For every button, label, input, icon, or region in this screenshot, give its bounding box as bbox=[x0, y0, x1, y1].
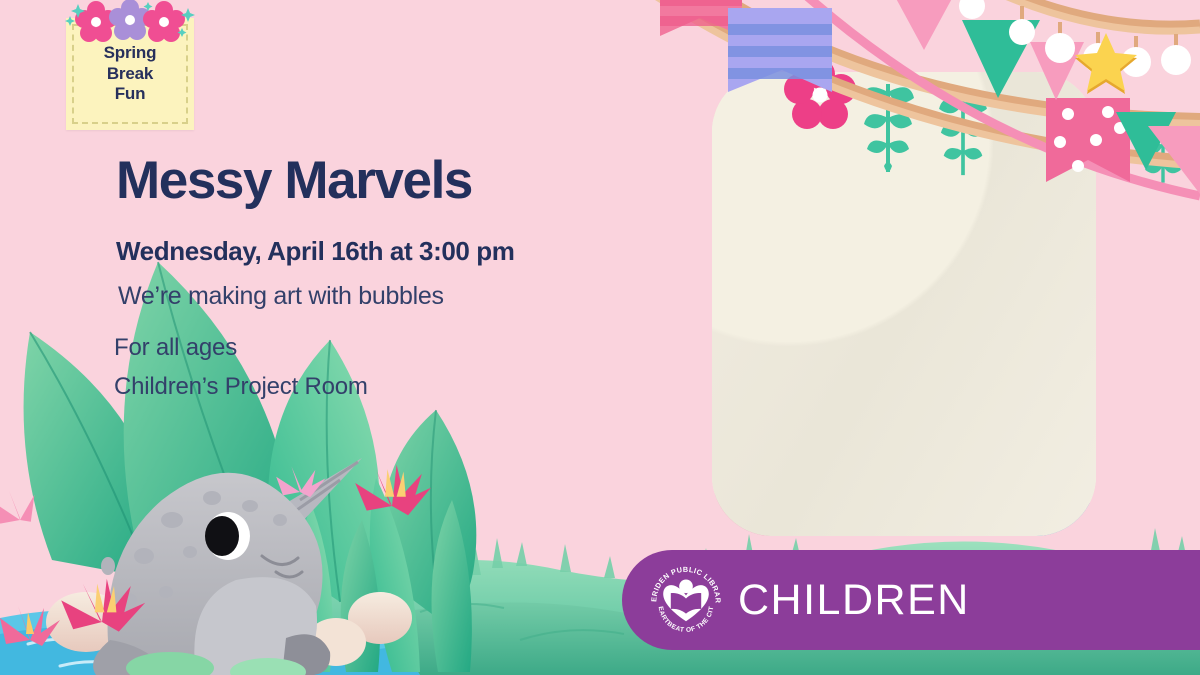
category-label: CHILDREN bbox=[738, 576, 970, 625]
pink-triangle-flag bbox=[886, 0, 962, 50]
badge-flowers bbox=[56, 0, 216, 58]
bubble-art-photo bbox=[712, 72, 1096, 536]
green-leaves bbox=[24, 262, 477, 672]
event-location: Children’s Project Room bbox=[114, 373, 368, 401]
striped-pink-flag bbox=[660, 0, 742, 36]
narwhal bbox=[93, 458, 362, 675]
badge-line-2: Break bbox=[107, 64, 153, 85]
event-audience: For all ages bbox=[114, 334, 237, 362]
river-stones bbox=[46, 592, 412, 666]
lotus-flowers bbox=[0, 465, 431, 675]
page-title: Messy Marvels bbox=[116, 150, 472, 211]
event-datetime: Wednesday, April 16th at 3:00 pm bbox=[116, 236, 515, 267]
library-logo: MERIDEN PUBLIC LIBRARY HEARTBEAT OF THE … bbox=[648, 562, 724, 638]
pink-triangle-flag bbox=[1148, 126, 1200, 194]
heart-book-reader-icon bbox=[663, 579, 709, 621]
badge-line-3: Fun bbox=[115, 84, 146, 105]
teal-triangle-flag bbox=[1116, 112, 1176, 170]
string-lights bbox=[959, 0, 1200, 77]
event-description: We’re making art with bubbles bbox=[118, 282, 444, 311]
water bbox=[0, 610, 420, 675]
event-poster: Spring Break Fun Messy Marvels bbox=[0, 0, 1200, 675]
category-banner: MERIDEN PUBLIC LIBRARY HEARTBEAT OF THE … bbox=[622, 550, 1200, 650]
paper-texture bbox=[712, 72, 1096, 536]
